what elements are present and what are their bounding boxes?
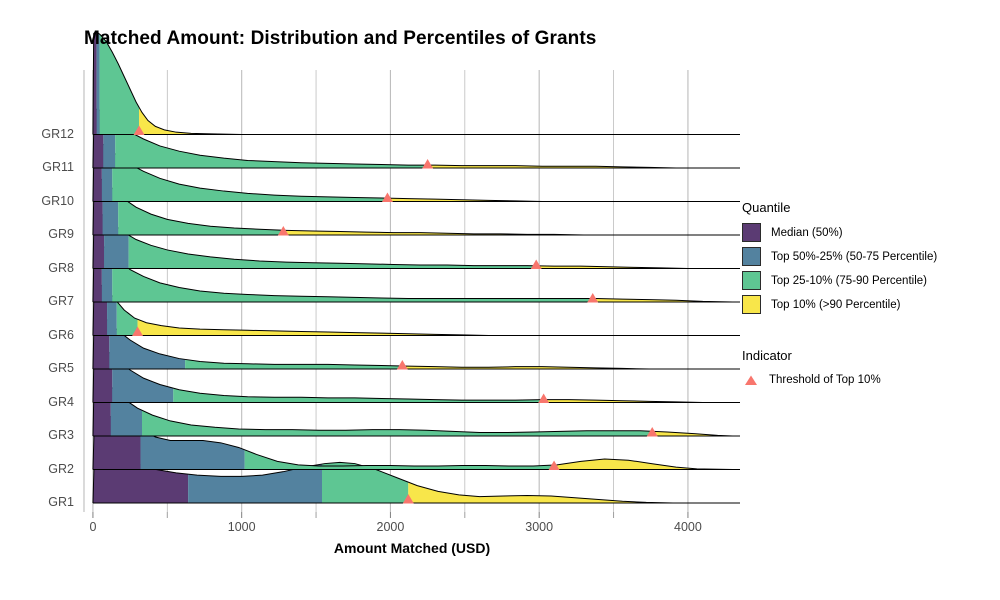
y-tick-label-gr2: GR2 [14, 462, 74, 476]
quantile-band [142, 410, 652, 436]
x-axis-title: Amount Matched (USD) [84, 540, 740, 556]
ridge-gr10 [93, 141, 740, 202]
x-tick-label: 3000 [499, 520, 579, 534]
y-tick-label-gr9: GR9 [14, 227, 74, 241]
legend-label: Median (50%) [771, 227, 843, 239]
legend-label: Top 50%-25% (50-75 Percentile) [771, 251, 937, 263]
quantile-band [139, 107, 733, 134]
y-tick-label-gr7: GR7 [14, 294, 74, 308]
x-tick-label: 0 [53, 520, 133, 534]
threshold-marker[interactable] [587, 293, 598, 303]
legend-label: Threshold of Top 10% [769, 374, 881, 386]
threshold-marker[interactable] [538, 394, 549, 404]
x-tick-label: 2000 [350, 520, 430, 534]
ridge-gr11 [93, 109, 740, 169]
threshold-marker[interactable] [397, 360, 408, 370]
ridge-gr8 [93, 212, 740, 269]
legend-item-quantile[interactable]: Top 50%-25% (50-75 Percentile) [742, 247, 992, 266]
quantile-band [138, 319, 733, 335]
y-tick-label-gr8: GR8 [14, 261, 74, 275]
ridgeline-chart: Matched Amount: Distribution and Percent… [0, 0, 1000, 600]
x-tick-label: 4000 [648, 520, 728, 534]
legend-swatch-0 [742, 223, 761, 242]
y-tick-label-gr4: GR4 [14, 395, 74, 409]
threshold-marker[interactable] [531, 260, 542, 270]
legend-label: Top 25-10% (75-90 Percentile) [771, 275, 927, 287]
y-tick-label-gr6: GR6 [14, 328, 74, 342]
legend-item-quantile[interactable]: Median (50%) [742, 223, 992, 242]
legend-swatch-1 [742, 247, 761, 266]
legend-quantile-title: Quantile [742, 200, 992, 215]
page-title: Matched Amount: Distribution and Percent… [84, 28, 596, 50]
y-tick-label-gr10: GR10 [14, 194, 74, 208]
legend-quantile: Quantile Median (50%)Top 50%-25% (50-75 … [742, 200, 992, 319]
quantile-band [245, 450, 554, 470]
ridge-gr5 [93, 315, 740, 369]
quantile-band [387, 198, 732, 201]
ridge-gr3 [93, 379, 740, 436]
legend-swatch-2 [742, 271, 761, 290]
threshold-marker[interactable] [382, 193, 393, 203]
legend-item-indicator[interactable]: Threshold of Top 10% [742, 371, 992, 388]
ridge-gr2 [93, 416, 740, 470]
ridge-gr7 [93, 243, 740, 303]
y-tick-label-gr12: GR12 [14, 127, 74, 141]
legend-swatch-3 [742, 295, 761, 314]
legend-indicator: Indicator Threshold of Top 10% [742, 348, 992, 388]
y-tick-label-gr3: GR3 [14, 428, 74, 442]
y-tick-label-gr1: GR1 [14, 495, 74, 509]
x-tick-label: 1000 [202, 520, 282, 534]
legend-item-quantile[interactable]: Top 25-10% (75-90 Percentile) [742, 271, 992, 290]
quantile-band [554, 459, 733, 469]
y-tick-label-gr11: GR11 [14, 160, 74, 174]
legend-label: Top 10% (>90 Percentile) [771, 299, 900, 311]
ridge-gr4 [93, 347, 740, 403]
y-tick-label-gr5: GR5 [14, 361, 74, 375]
quantile-band [408, 482, 732, 503]
threshold-triangle-icon [742, 371, 759, 388]
legend-indicator-title: Indicator [742, 348, 992, 363]
legend-item-quantile[interactable]: Top 10% (>90 Percentile) [742, 295, 992, 314]
threshold-marker[interactable] [422, 159, 433, 169]
